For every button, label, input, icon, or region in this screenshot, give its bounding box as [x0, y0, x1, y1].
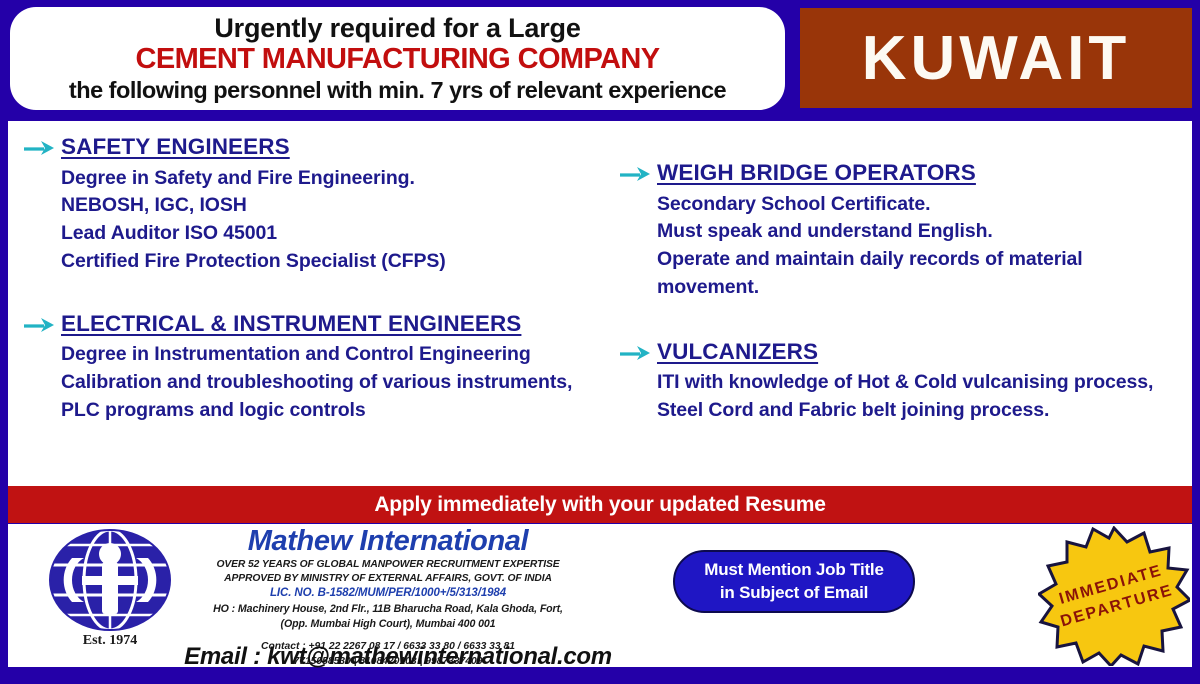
job-requirement-line: Secondary School Certificate. [657, 191, 1184, 219]
job-requirements: Secondary School Certificate. Must speak… [657, 191, 1184, 302]
job-requirement-line: Degree in Safety and Fire Engineering. [61, 165, 596, 193]
job-requirements: ITI with knowledge of Hot & Cold vulcani… [657, 369, 1184, 424]
job-requirement-line: Calibration and troubleshooting of vario… [61, 369, 596, 424]
company-address-line-2: (Opp. Mumbai High Court), Mumbai 400 001 [198, 617, 578, 632]
arrow-bullet-icon [620, 165, 652, 183]
company-address-line-1: HO : Machinery House, 2nd Flr., 11B Bhar… [198, 602, 578, 617]
job-title: SAFETY ENGINEERS [61, 134, 290, 159]
job-requirement-line: Operate and maintain daily records of ma… [657, 246, 1184, 301]
immediate-departure-badge: IMMEDIATE DEPARTURE [1038, 526, 1190, 666]
apply-banner-text: Apply immediately with your updated Resu… [374, 493, 825, 517]
job-requirement-line: Degree in Instrumentation and Control En… [61, 341, 596, 369]
advert-footer: Est. 1974 Mathew International OVER 52 Y… [8, 524, 1192, 667]
headline-line-2-company-type: CEMENT MANUFACTURING COMPANY [136, 45, 660, 74]
job-entry-safety-engineers: SAFETY ENGINEERS Degree in Safety and Fi… [16, 133, 596, 276]
job-column-left: SAFETY ENGINEERS Degree in Safety and Fi… [16, 133, 596, 446]
job-entry-weigh-bridge-operators: WEIGH BRIDGE OPERATORS Secondary School … [612, 159, 1184, 302]
job-title: ELECTRICAL & INSTRUMENT ENGINEERS [61, 311, 521, 336]
headline-box: Urgently required for a Large CEMENT MAN… [10, 7, 785, 110]
job-entry-vulcanizers: VULCANIZERS ITI with knowledge of Hot & … [612, 338, 1184, 425]
globe-logo-icon [48, 528, 172, 632]
company-tagline-1: OVER 52 YEARS OF GLOBAL MANPOWER RECRUIT… [198, 558, 578, 572]
company-email[interactable]: Email : kwt@mathewinternational.com [163, 643, 633, 671]
job-requirement-line: Must speak and understand English. [657, 218, 1184, 246]
job-requirement-line: ITI with knowledge of Hot & Cold vulcani… [657, 369, 1184, 424]
headline-line-3-experience: the following personnel with min. 7 yrs … [69, 79, 726, 103]
job-column-right: WEIGH BRIDGE OPERATORS Secondary School … [612, 159, 1184, 447]
job-requirements: Degree in Instrumentation and Control En… [61, 341, 596, 424]
headline-line-1: Urgently required for a Large [214, 15, 580, 42]
subject-instruction-line-1: Must Mention Job Title [704, 559, 883, 582]
company-tagline-2: APPROVED BY MINISTRY OF EXTERNAL AFFAIRS… [198, 572, 578, 586]
job-requirements: Degree in Safety and Fire Engineering. N… [61, 165, 596, 276]
arrow-bullet-icon [24, 139, 56, 157]
job-entry-electrical-instrument-engineers: ELECTRICAL & INSTRUMENT ENGINEERS Degree… [16, 310, 596, 425]
country-banner: KUWAIT [800, 8, 1192, 108]
apply-banner: Apply immediately with your updated Resu… [8, 486, 1192, 523]
job-listings-panel: SAFETY ENGINEERS Degree in Safety and Fi… [8, 121, 1192, 486]
advert-header: Urgently required for a Large CEMENT MAN… [0, 0, 1200, 118]
job-requirement-line: NEBOSH, IGC, IOSH [61, 192, 596, 220]
job-requirement-line: Certified Fire Protection Specialist (CF… [61, 248, 596, 276]
company-license-number: LIC. NO. B-1582/MUM/PER/1000+/5/313/1984 [198, 586, 578, 602]
arrow-bullet-icon [620, 344, 652, 362]
job-title: VULCANIZERS [657, 339, 818, 364]
company-name: Mathew International [198, 526, 578, 558]
job-requirement-line: Lead Auditor ISO 45001 [61, 220, 596, 248]
subject-instruction-pill: Must Mention Job Title in Subject of Ema… [673, 550, 915, 613]
subject-instruction-line-2: in Subject of Email [720, 582, 868, 605]
company-logo-block: Est. 1974 [30, 528, 190, 649]
country-label: KUWAIT [862, 23, 1131, 94]
job-title: WEIGH BRIDGE OPERATORS [657, 160, 976, 185]
arrow-bullet-icon [24, 316, 56, 334]
